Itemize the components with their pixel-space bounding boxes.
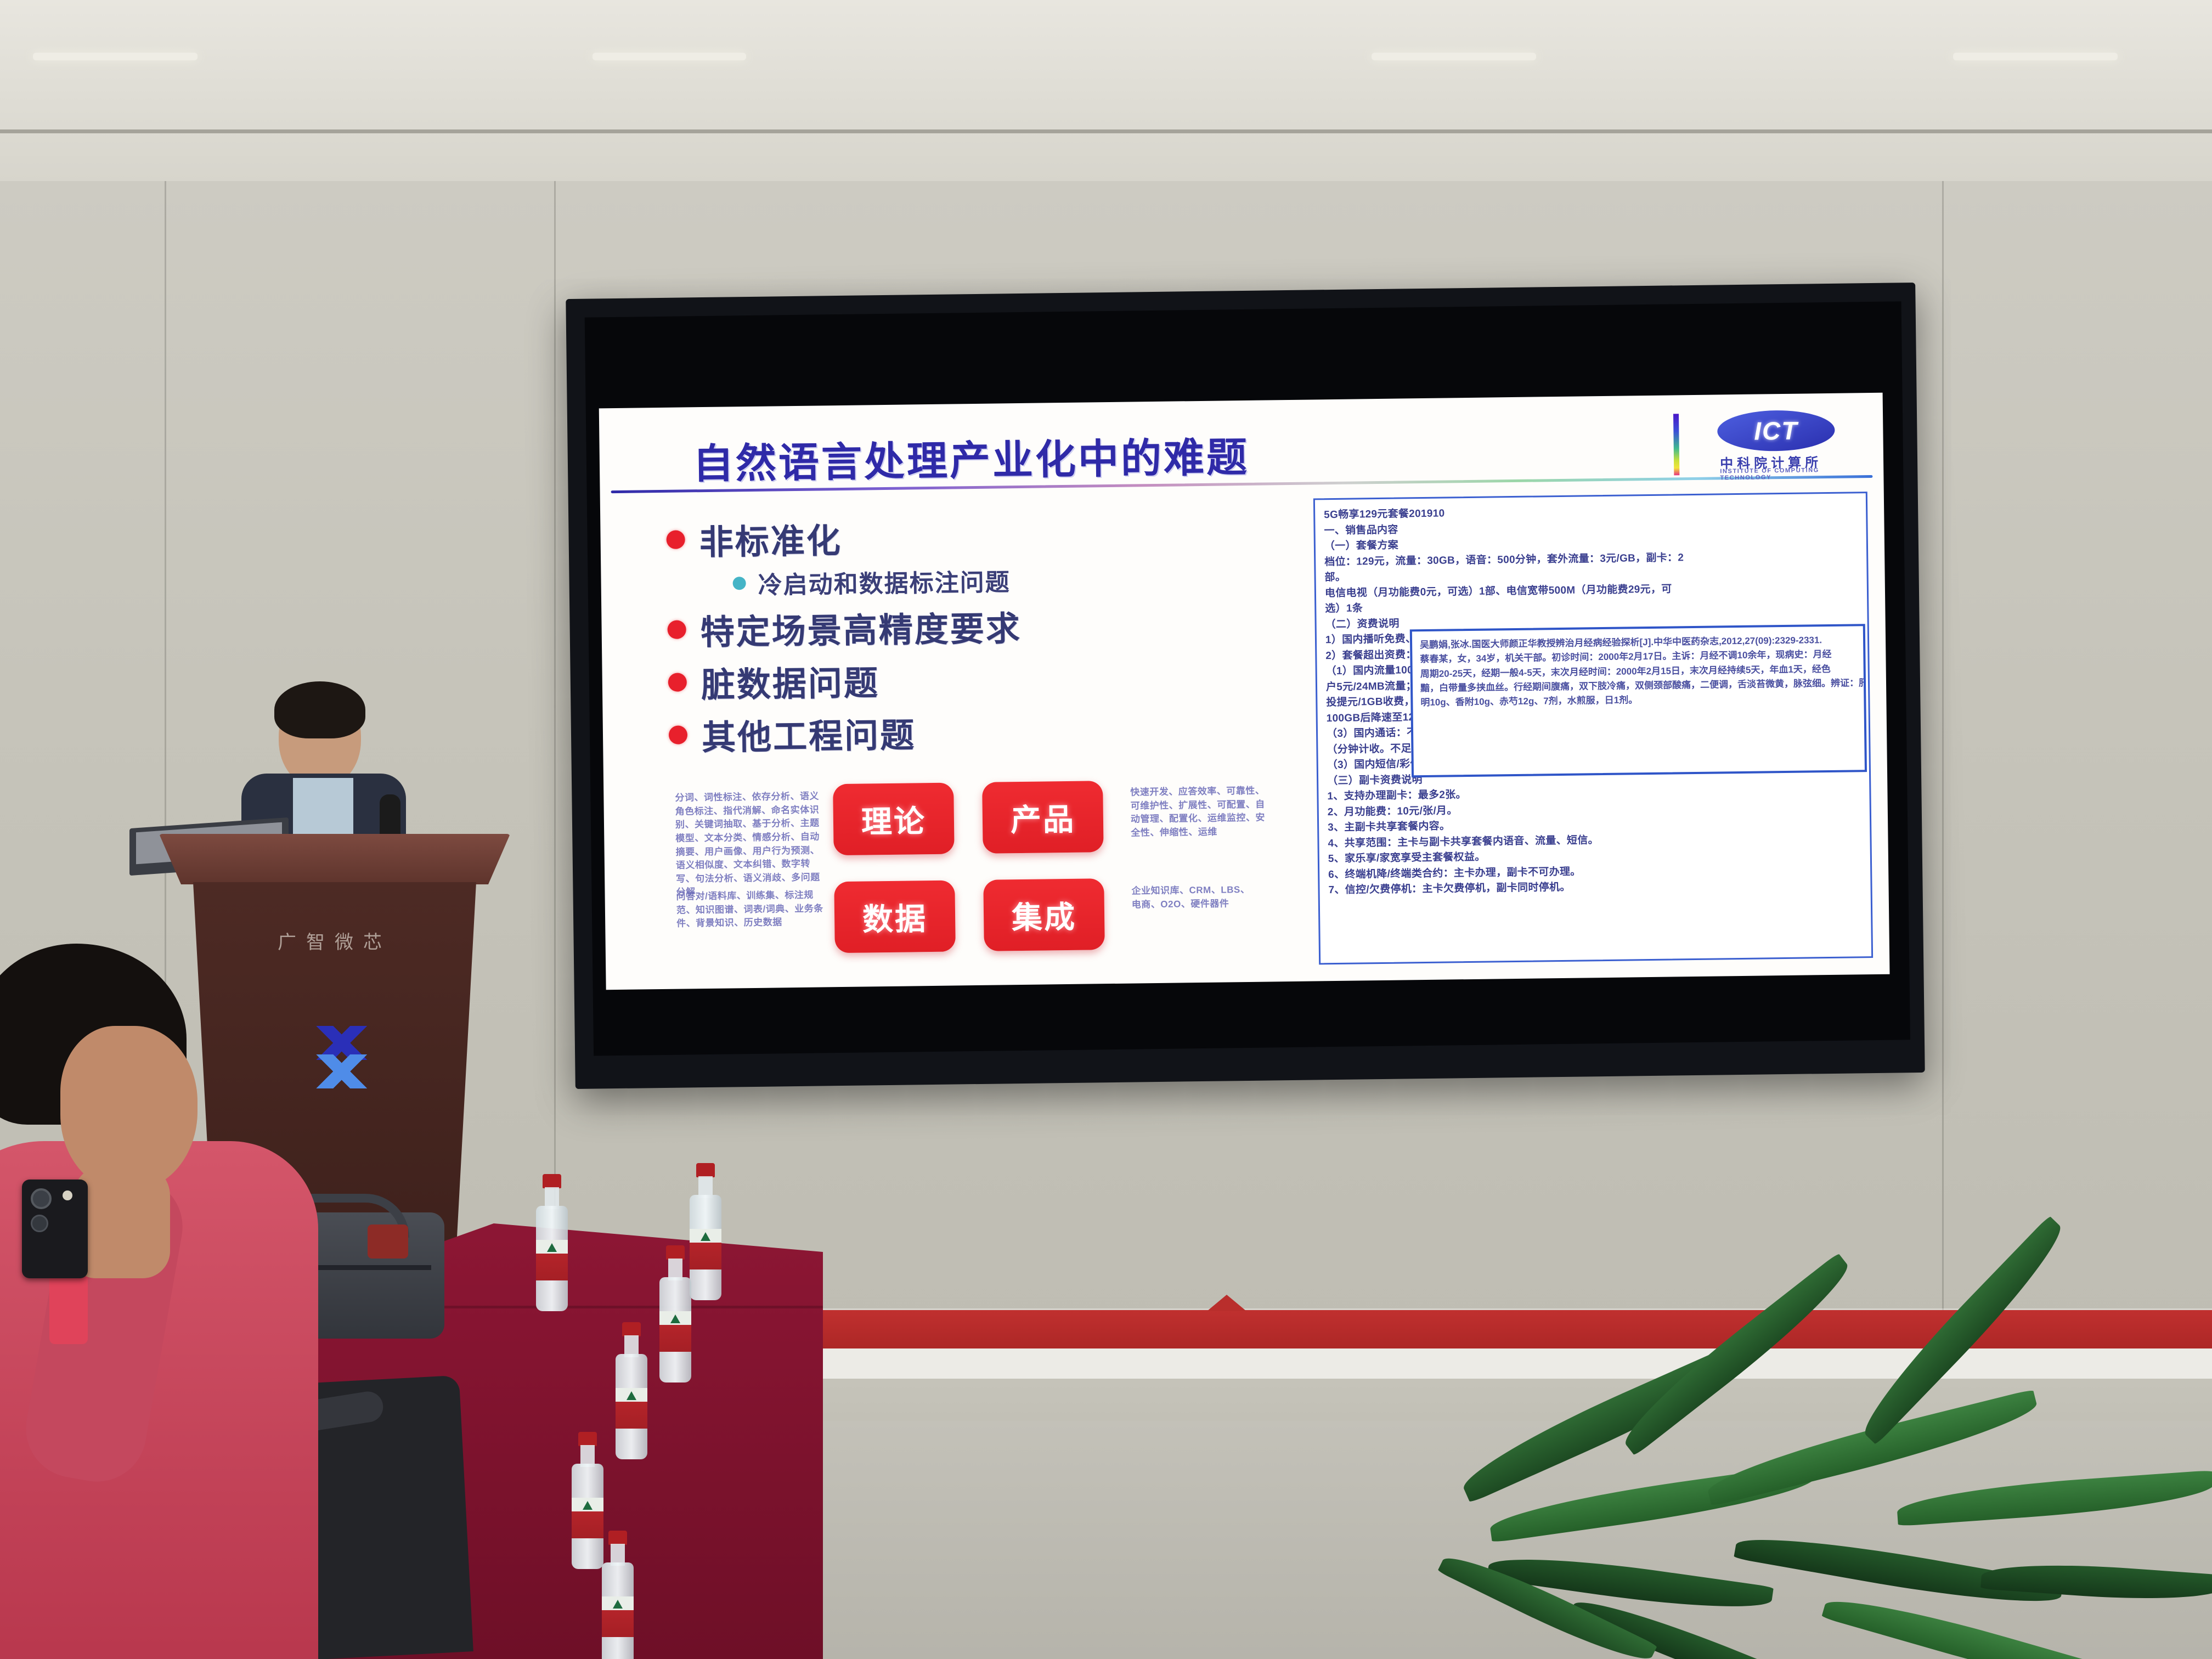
slide-bullet-list: 非标准化 冷启动和数据标注问题 特定场景高精度要求 脏数据问题 其他工程问题: [666, 504, 1300, 762]
bullet-label: 特定场景高精度要求: [700, 601, 1022, 654]
podium-top: [159, 834, 510, 884]
palm-leaf: [1896, 1470, 2212, 1526]
ceiling-panel: [0, 0, 2212, 181]
rainbow-bar-icon: [1673, 414, 1679, 475]
microtext-right-top: 快速开发、应答效率、可靠性、可维护性、扩展性、可配置、自动管理、配置化、运维监控…: [1130, 785, 1268, 840]
conference-room-photo: 自然语言处理产业化中的难题 ICT 中科院计算所 INSTITUTE OF CO…: [0, 0, 2212, 1659]
display-screen[interactable]: 自然语言处理产业化中的难题 ICT 中科院计算所 INSTITUTE OF CO…: [566, 283, 1925, 1089]
concept-box-label: 产品: [1010, 794, 1075, 839]
bullet-item-sub: 冷启动和数据标注问题: [732, 559, 1298, 601]
microtext-left-bottom: 问答对/语料库、训练集、标注规范、知识图谱、词表/词典、业务条件、背景知识、历史…: [676, 888, 825, 930]
concept-box-data[interactable]: 数据: [834, 880, 956, 953]
wall-seam: [1942, 181, 1944, 1333]
ceiling-light: [592, 53, 746, 60]
camera-flash-icon: [63, 1190, 72, 1200]
bullet-label: 冷启动和数据标注问题: [758, 562, 1011, 601]
bullet-dot-icon: [669, 725, 687, 744]
water-bottle[interactable]: [571, 1432, 605, 1569]
concept-box-product[interactable]: 产品: [982, 781, 1104, 854]
ict-logo-en: INSTITUTE OF COMPUTING TECHNOLOGY: [1720, 466, 1850, 481]
bullet-dot-icon: [666, 530, 685, 549]
concept-box-label: 数据: [862, 894, 928, 939]
ict-oval-mark: ICT: [1717, 410, 1835, 452]
presenter-hair: [274, 681, 365, 738]
ceiling-light: [1953, 53, 2118, 60]
water-bottle[interactable]: [689, 1163, 723, 1300]
audience-sleeve: [49, 1273, 88, 1344]
camera-lens-icon: [31, 1188, 52, 1209]
bullet-label: 脏数据问题: [701, 655, 879, 707]
foreground-audience-person: [0, 944, 318, 1659]
concept-box-grid: 理论 产品 数据 集成: [833, 781, 1120, 965]
water-bottle[interactable]: [658, 1245, 692, 1383]
camera-lens-icon: [31, 1215, 48, 1232]
bullet-item: 其他工程问题: [668, 703, 1300, 760]
backpack-red-patch: [368, 1224, 408, 1259]
ceiling-light: [33, 53, 198, 60]
bullet-item: 非标准化: [666, 507, 1297, 565]
slide-title: 自然语言处理产业化中的难题: [692, 425, 1249, 490]
bullet-item: 特定场景高精度要求: [667, 597, 1299, 654]
ceiling-light: [1372, 53, 1536, 60]
bullet-item: 脏数据问题: [668, 650, 1299, 707]
presentation-slide[interactable]: 自然语言处理产业化中的难题 ICT 中科院计算所 INSTITUTE OF CO…: [599, 393, 1890, 990]
microtext-left-top: 分词、词性标注、依存分析、语义角色标注、指代消解、命名实体识别、关键词抽取、基于…: [675, 789, 824, 899]
medical-case-overlay-panel: 吴鹏娟,张冰.国医大师颜正华教授辨治月经病经验探析[J].中华中医药杂志,201…: [1410, 624, 1867, 777]
concept-box-label: 理论: [861, 797, 926, 842]
wall-seam: [554, 181, 556, 1333]
water-bottle[interactable]: [535, 1174, 569, 1311]
concept-box-theory[interactable]: 理论: [833, 783, 955, 856]
concept-box-label: 集成: [1012, 892, 1077, 937]
bullet-dot-icon: [733, 577, 746, 590]
bullet-dot-icon: [668, 673, 687, 691]
ict-logo-text: ICT: [1754, 416, 1798, 446]
bullet-dot-icon: [667, 620, 686, 639]
ceiling-seam: [0, 129, 2212, 133]
palm-leaf: [1821, 1587, 2125, 1659]
telecom-document-panel: 5G畅享129元套餐201910 一、销售品内容 （一）套餐方案 档位：129元…: [1313, 492, 1873, 964]
bullet-label: 非标准化: [699, 513, 842, 564]
bullet-label: 其他工程问题: [701, 707, 916, 759]
ict-logo: ICT 中科院计算所 INSTITUTE OF COMPUTING TECHNO…: [1669, 408, 1850, 478]
smartphone[interactable]: [22, 1180, 88, 1278]
potted-palm-plant: [1404, 1328, 2212, 1659]
microtext-right-bottom: 企业知识库、CRM、LBS、电商、O2O、硬件器件: [1131, 883, 1252, 912]
water-bottle[interactable]: [614, 1322, 648, 1459]
concept-box-integration[interactable]: 集成: [983, 878, 1105, 951]
water-bottle[interactable]: [601, 1531, 635, 1659]
